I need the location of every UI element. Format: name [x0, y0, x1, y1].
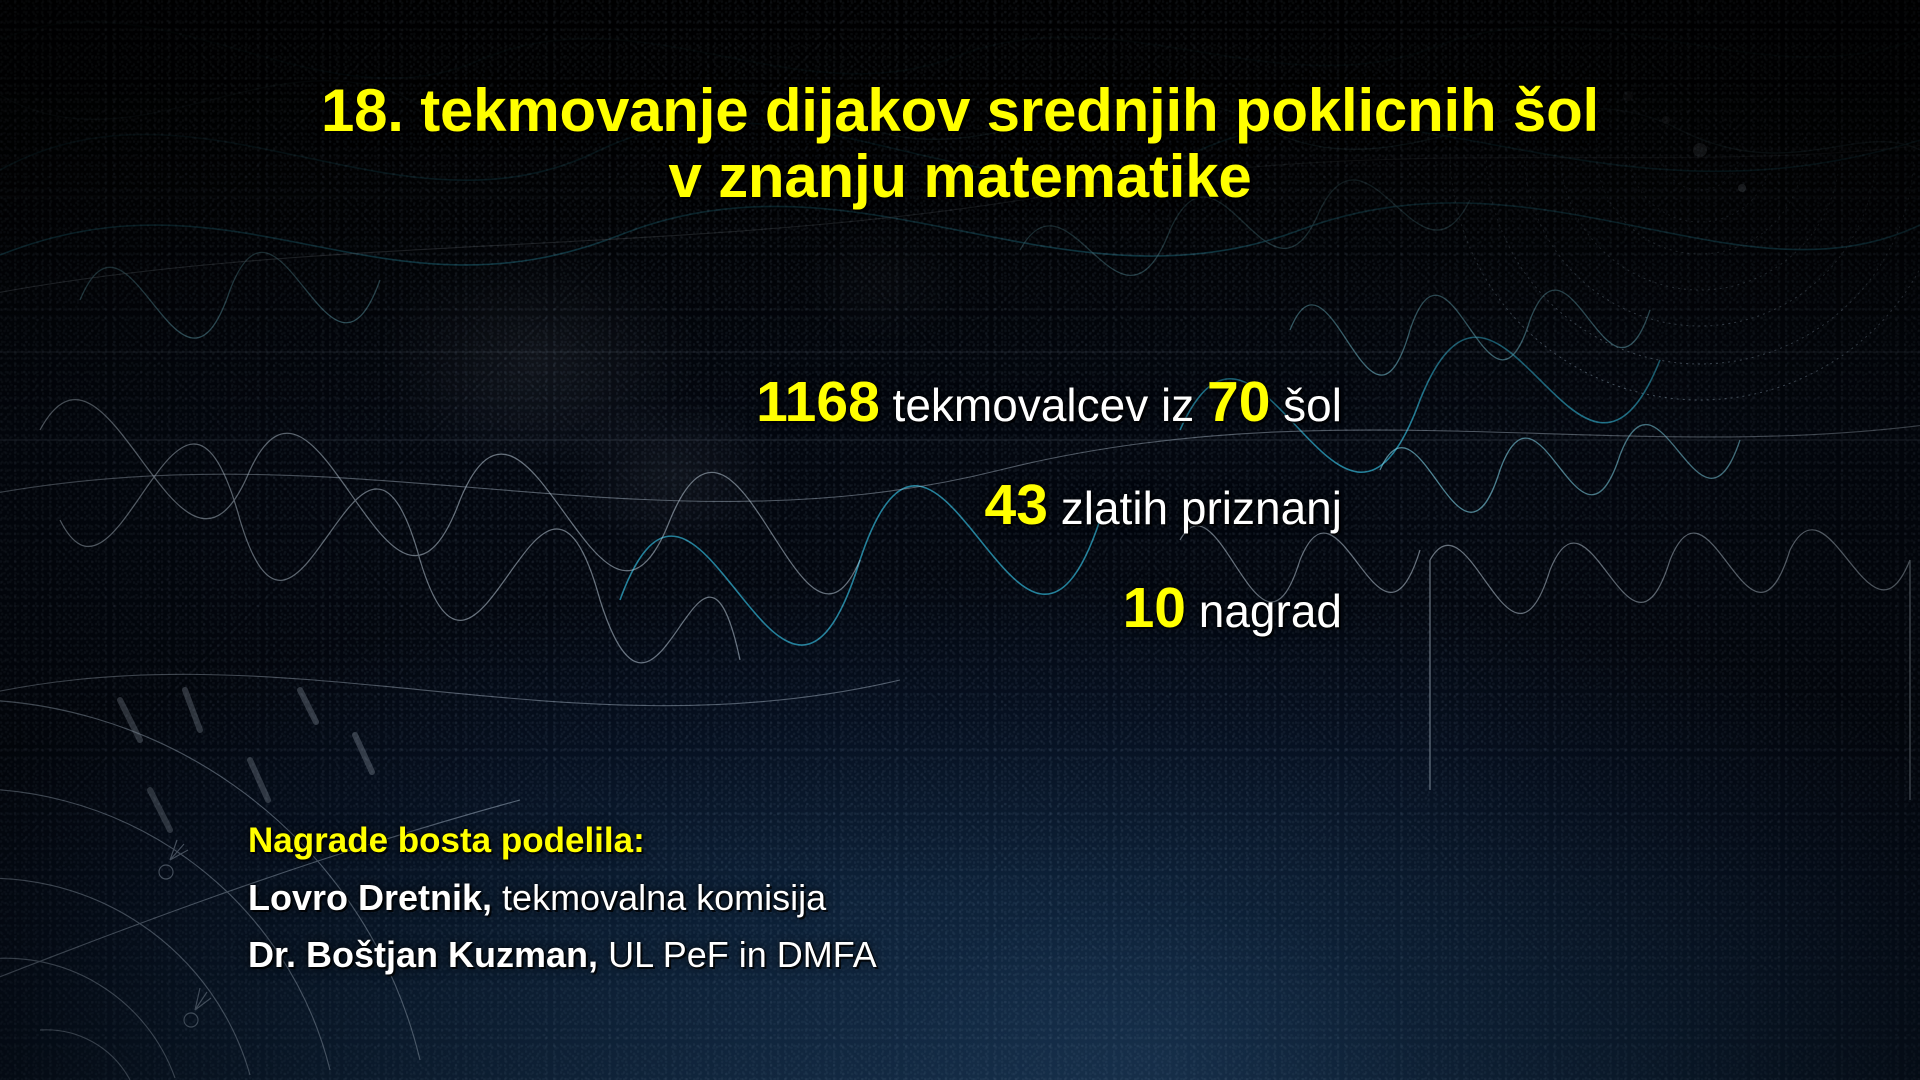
credits-block: Nagrade bosta podelila: Lovro Dretnik, t…	[248, 812, 1348, 983]
slide-title: 18. tekmovanje dijakov srednjih poklicni…	[0, 78, 1920, 210]
stat-schools-count: 70	[1207, 370, 1270, 434]
presenter-2-role: UL PeF in DMFA	[598, 934, 877, 975]
stat-row-gold-awards: 43 zlatih priznanj	[0, 455, 1342, 558]
presenter-2: Dr. Boštjan Kuzman, UL PeF in DMFA	[248, 926, 1348, 983]
presenter-1-name: Lovro Dretnik,	[248, 877, 492, 918]
statistics-block: 1168 tekmovalcev iz 70 šol 43 zlatih pri…	[0, 352, 1342, 661]
stat-row-prizes: 10 nagrad	[0, 558, 1342, 661]
presentation-slide: 18. tekmovanje dijakov srednjih poklicni…	[0, 0, 1920, 1080]
stat-gold-count: 43	[985, 473, 1048, 537]
stat-competitors-count: 1168	[756, 370, 880, 434]
presenter-1: Lovro Dretnik, tekmovalna komisija	[248, 869, 1348, 926]
stat-competitors-label: tekmovalcev iz	[880, 379, 1207, 431]
stat-row-competitors: 1168 tekmovalcev iz 70 šol	[0, 352, 1342, 455]
credits-heading: Nagrade bosta podelila:	[248, 812, 1348, 869]
title-line-1: 18. tekmovanje dijakov srednjih poklicni…	[0, 78, 1920, 144]
title-line-2: v znanju matematike	[0, 144, 1920, 210]
stat-prizes-label: nagrad	[1186, 585, 1342, 637]
stat-gold-label: zlatih priznanj	[1048, 482, 1342, 534]
presenter-2-name: Dr. Boštjan Kuzman,	[248, 934, 598, 975]
stat-schools-label: šol	[1270, 379, 1342, 431]
presenter-1-role: tekmovalna komisija	[492, 877, 826, 918]
stat-prizes-count: 10	[1123, 576, 1186, 640]
